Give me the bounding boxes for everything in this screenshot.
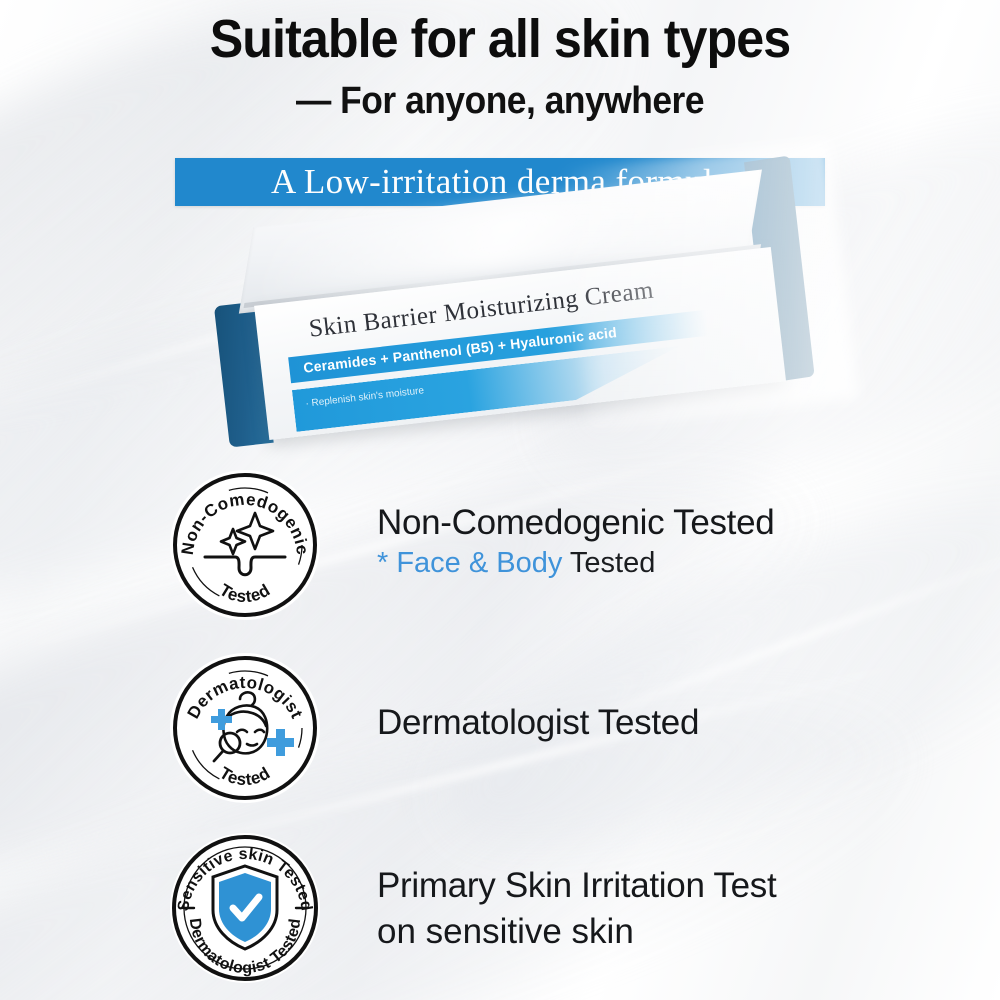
feature-title: Primary Skin Irritation Test xyxy=(377,866,776,906)
feature-subtitle: * Face & Body Tested xyxy=(377,547,774,580)
page-title: Suitable for all skin types xyxy=(35,8,965,70)
feature-text-sensitive-skin: Primary Skin Irritation Test on sensitiv… xyxy=(377,866,776,952)
feature-subtitle-rest: Tested xyxy=(562,547,655,579)
badge-non-comedogenic: Non-Comedogenic Tested xyxy=(167,467,323,623)
feature-text-non-comedogenic: Non-Comedogenic Tested * Face & Body Tes… xyxy=(377,503,774,580)
feature-title: Non-Comedogenic Tested xyxy=(377,503,774,543)
feature-subtitle-accent: * Face & Body xyxy=(377,547,562,579)
product-package-image: Skin Barrier Moisturizing Cream Ceramide… xyxy=(210,215,830,480)
page-subtitle: — For anyone, anywhere xyxy=(35,80,965,123)
badge-dermatologist: Dermatologist Tested xyxy=(167,650,323,806)
feature-title-line2: on sensitive skin xyxy=(377,912,776,952)
promo-page: Suitable for all skin types — For anyone… xyxy=(0,0,1000,1000)
feature-title: Dermatologist Tested xyxy=(377,703,699,743)
feature-text-dermatologist: Dermatologist Tested xyxy=(377,703,699,743)
badge-sensitive-skin: Sensitive skin Tested Dermatologist Test… xyxy=(167,830,323,986)
product-claim: · Replenish skin's moisture xyxy=(305,385,425,409)
